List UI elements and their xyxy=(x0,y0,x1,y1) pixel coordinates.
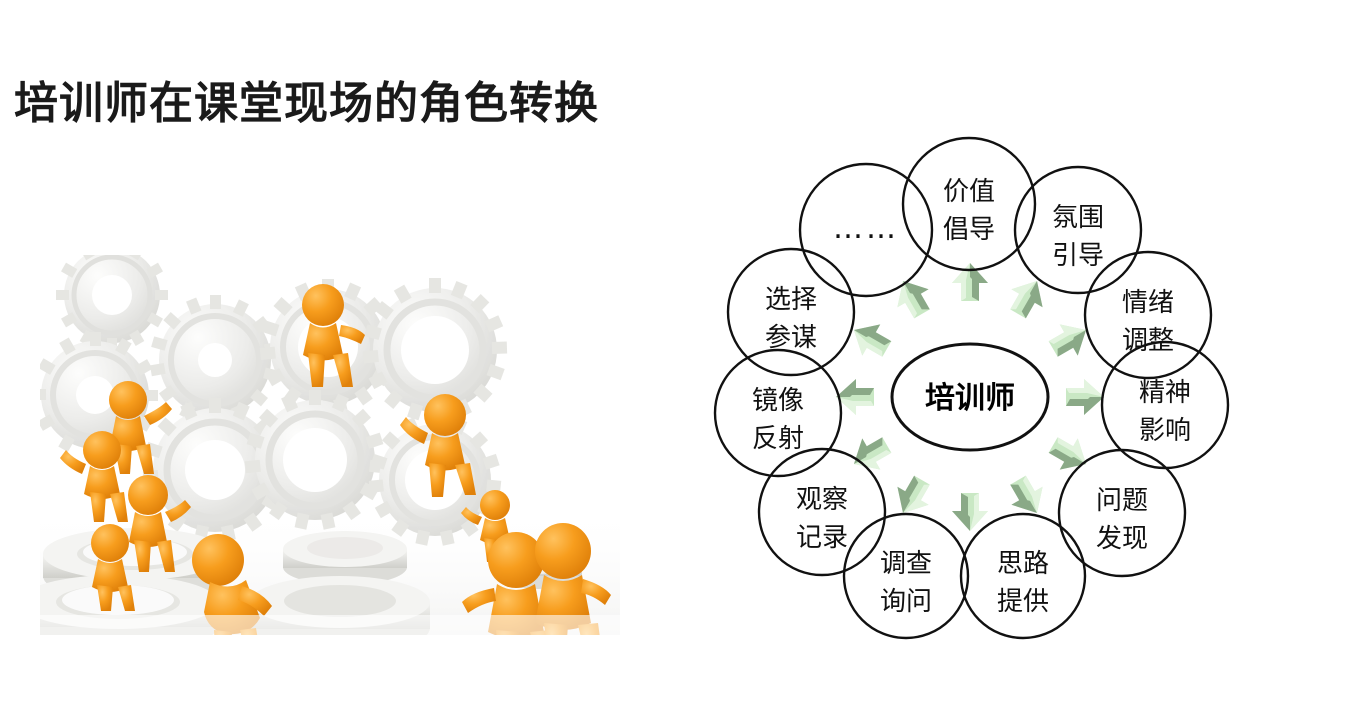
slide-canvas: 培训师在课堂现场的角色转换 xyxy=(0,0,1360,720)
node-label-spirit-line2: 影响 xyxy=(1139,416,1191,446)
node-label-observe-line2: 记录 xyxy=(796,523,848,553)
node-label-problem-line2: 发现 xyxy=(1096,524,1148,554)
node-label-atmosphere: 氛围 xyxy=(1052,203,1104,233)
node-label-value: 价值 xyxy=(943,177,995,207)
role-transformation-diagram: 培训师 ……价值倡导氛围引导情绪调整精神影响问题发现思路提供调查询问观察记录镜像… xyxy=(690,120,1250,660)
node-label-value-line2: 倡导 xyxy=(943,215,995,245)
node-label-idea: 思路 xyxy=(997,549,1049,579)
center-label: 培训师 xyxy=(925,381,1015,416)
node-label-ellipsis: …… xyxy=(833,211,899,246)
node-label-emotion: 情绪 xyxy=(1122,288,1174,318)
node-label-problem: 问题 xyxy=(1096,486,1148,516)
radial-arrow-7 xyxy=(952,493,988,531)
radial-arrow-4 xyxy=(1066,379,1104,415)
node-label-choose-line2: 参谋 xyxy=(765,323,817,353)
node-label-survey-line2: 询问 xyxy=(880,587,932,617)
center-node[interactable]: 培训师 xyxy=(892,344,1048,450)
node-label-survey: 调查 xyxy=(880,549,932,579)
gears-illustration xyxy=(40,255,620,635)
node-label-choose: 选择 xyxy=(765,285,817,315)
node-label-mirror: 镜像 xyxy=(752,386,804,416)
node-label-spirit: 精神 xyxy=(1139,378,1191,408)
node-label-observe: 观察 xyxy=(796,485,848,515)
node-label-atmosphere-line2: 引导 xyxy=(1052,241,1104,271)
node-label-mirror-line2: 反射 xyxy=(752,424,804,454)
page-title: 培训师在课堂现场的角色转换 xyxy=(14,78,599,131)
node-label-idea-line2: 提供 xyxy=(997,587,1049,617)
node-label-emotion-line2: 调整 xyxy=(1122,326,1174,356)
